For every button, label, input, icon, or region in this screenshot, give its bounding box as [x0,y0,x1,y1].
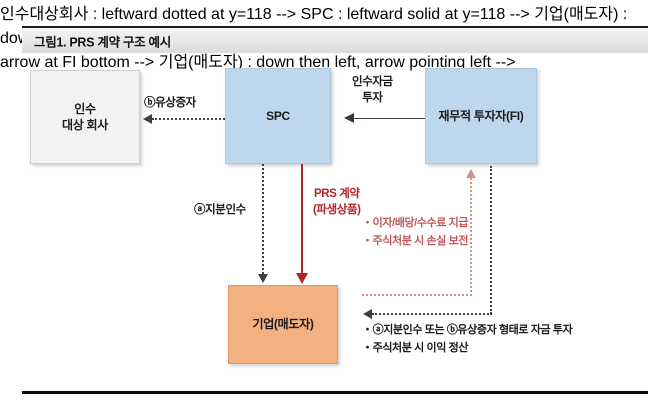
node-target-company-line1: 인수 [74,102,95,116]
label-acquisition-fund: 인수자금 투자 [352,74,393,106]
figure-container: 그림1. PRS 계약 구조 예시 인수 대상 회사 SPC 재무적 투자자(F… [0,0,658,418]
label-prs-contract-line1: PRS 계약 [314,188,360,200]
label-dark-note-1: ・ⓐ지분인수 또는 ⓑ유상증자 형태로 자금 투자 [362,322,572,340]
label-red-notes: ・이자/배당/수수료 지급 ・주식처분 시 손실 보전 [362,215,468,250]
node-spc-label: SPC [266,108,290,124]
figure-title-bar: 그림1. PRS 계약 구조 예시 [22,26,648,53]
arrowhead-fi-investment [363,309,372,319]
connector-fi-investment-vertical [490,166,492,314]
connector-fi-investment-horizontal [372,313,492,315]
label-acquisition-fund-line2: 투자 [362,92,382,104]
node-seller-company-label: 기업(매도자) [252,316,313,332]
node-financial-investor: 재무적 투자자(FI) [425,68,537,164]
arrowhead-rights-issue [143,114,152,124]
node-target-company-line2: 대상 회사 [62,118,108,132]
connector-share-acquisition-line [262,164,264,274]
connector-loss-compensation-horizontal [362,294,472,296]
label-share-acquisition: ⓐ지분인수 [194,202,246,218]
node-target-company-label: 인수 대상 회사 [62,101,108,133]
label-red-note-1: ・이자/배당/수수료 지급 [362,215,468,233]
label-rights-issue: ⓑ유상증자 [144,95,196,111]
arrowhead-loss-compensation [466,169,476,178]
node-financial-investor-label: 재무적 투자자(FI) [439,108,524,124]
label-dark-notes: ・ⓐ지분인수 또는 ⓑ유상증자 형태로 자금 투자 ・주식처분 시 이익 정산 [362,322,572,357]
node-spc: SPC [225,68,331,164]
connector-prs-contract-line [301,164,303,273]
label-acquisition-fund-line1: 인수자금 [352,76,393,88]
label-red-note-2: ・주식처분 시 손실 보전 [362,233,468,251]
figure-bottom-rule [22,391,648,394]
arrowhead-prs-contract [296,273,308,284]
node-target-company: 인수 대상 회사 [30,70,140,164]
label-prs-contract: PRS 계약 (파생상품) [313,186,361,218]
arrowhead-share-acquisition [258,274,268,283]
label-dark-note-2: ・주식처분 시 이익 정산 [362,340,572,358]
connector-acquisition-fund-line [354,118,425,119]
connector-rights-issue-line [152,118,225,120]
connector-loss-compensation-vertical [470,178,472,296]
label-prs-contract-line2: (파생상품) [313,204,361,216]
arrowhead-acquisition-fund [344,113,354,123]
node-seller-company: 기업(매도자) [228,285,338,364]
figure-title: 그림1. PRS 계약 구조 예시 [34,31,171,50]
